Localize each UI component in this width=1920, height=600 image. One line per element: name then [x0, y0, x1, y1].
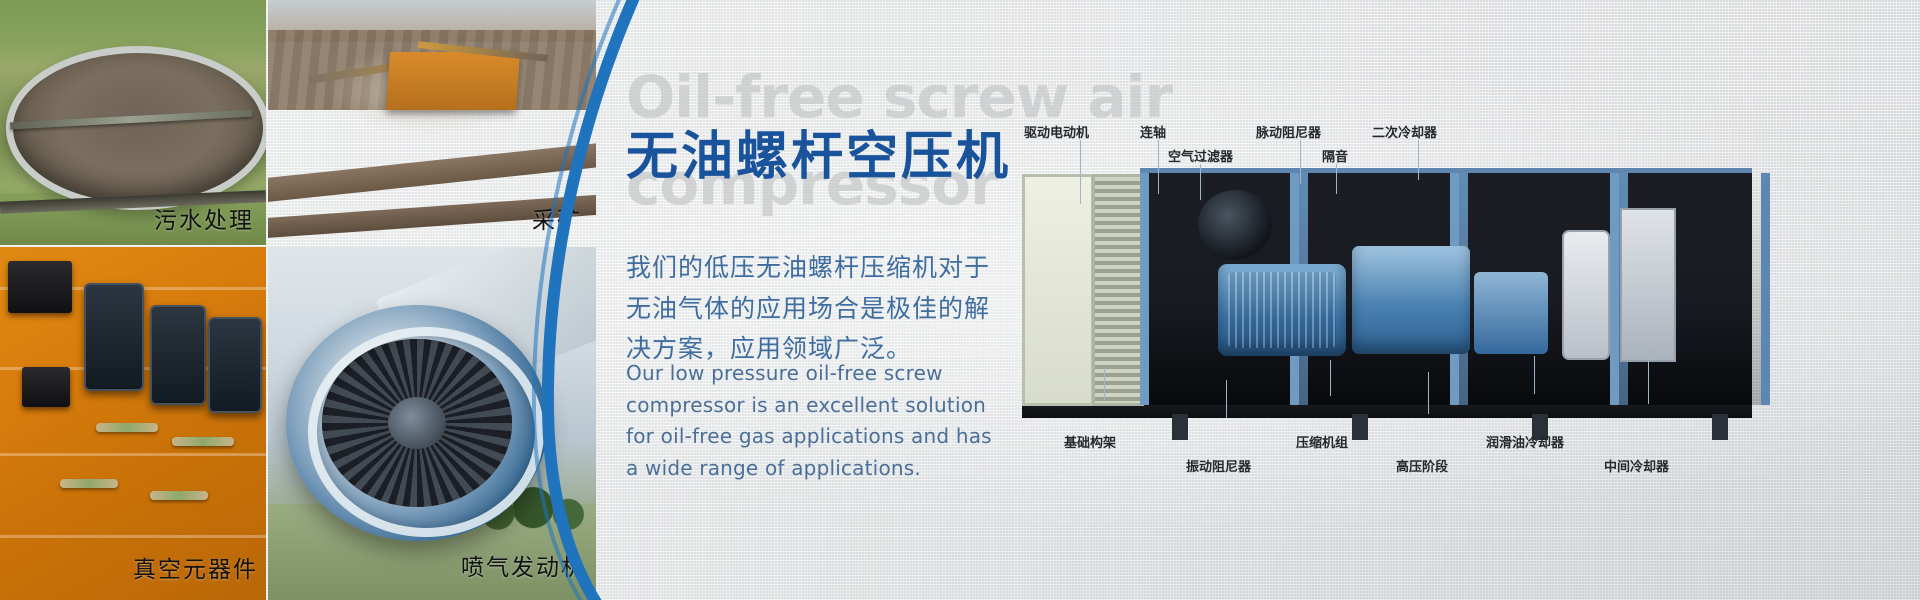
pcb-trace	[0, 453, 266, 456]
leader-line	[1648, 352, 1649, 404]
compressor-unit-illustration	[1022, 168, 1752, 418]
leader-line	[1300, 140, 1301, 184]
leader-line	[1226, 380, 1227, 418]
leader-line	[1418, 140, 1419, 180]
air-filter-housing	[1198, 190, 1272, 260]
diagram-label: 高压阶段	[1396, 456, 1448, 475]
drive-motor	[1218, 264, 1346, 356]
diagram-label: 压缩机组	[1296, 432, 1348, 451]
motor-ribs	[1228, 272, 1336, 348]
diagram-label: 空气过滤器	[1168, 146, 1233, 165]
cooling-fin-stack	[1092, 174, 1144, 406]
photo-vacuum-components: 真空元器件	[0, 247, 266, 600]
inlet-lip	[308, 327, 544, 537]
ic-chip	[22, 367, 70, 407]
haul-road	[268, 140, 596, 204]
diagram-label: 驱动电动机	[1024, 122, 1089, 141]
leader-line	[1104, 368, 1105, 400]
compressor-diagram: 驱动电动机连轴脉动阻尼器二次冷却器空气过滤器隔音 基础构架振动阻尼器压缩机组高压…	[1000, 0, 1920, 600]
vibration-damper-leg	[1712, 414, 1728, 440]
lube-oil-cooler	[1562, 230, 1610, 360]
diagram-label: 振动阻尼器	[1186, 456, 1251, 475]
high-pressure-stage	[1474, 272, 1548, 354]
resistor	[150, 491, 208, 500]
electrolytic-capacitor	[84, 283, 144, 391]
diagram-label: 脉动阻尼器	[1256, 122, 1321, 141]
resistor	[96, 423, 158, 432]
leader-line	[1158, 140, 1159, 194]
leader-line	[1080, 140, 1081, 204]
screw-compressor-block	[1352, 246, 1470, 354]
photo-collage: 污水处理 采矿 真空元器件	[0, 0, 596, 600]
diagram-label: 润滑油冷却器	[1486, 432, 1564, 451]
sedimentation-tank	[6, 46, 266, 210]
leader-line	[1428, 372, 1429, 414]
photo-caption-wastewater: 污水处理	[154, 201, 254, 235]
vibration-damper-leg	[1172, 414, 1188, 440]
vibration-damper-leg	[1352, 414, 1368, 440]
text-column: Oil-free screw air compressor 无油螺杆空压机 我们…	[626, 0, 1026, 600]
electrolytic-capacitor	[150, 305, 206, 405]
leader-line	[1336, 164, 1337, 194]
photo-caption-vacuum-components: 真空元器件	[133, 550, 258, 584]
leader-line	[1330, 360, 1331, 396]
leader-line	[1200, 164, 1201, 200]
diagram-label: 二次冷却器	[1372, 122, 1437, 141]
diagram-label: 中间冷却器	[1604, 456, 1669, 475]
photo-caption-jet-engine: 喷气发动机	[461, 548, 586, 582]
leader-line	[1534, 356, 1535, 394]
photo-jet-engine: 喷气发动机	[268, 247, 596, 600]
resistor	[60, 479, 118, 488]
photo-caption-mining: 采矿	[532, 201, 582, 235]
secondary-cooler-panel	[1022, 174, 1094, 406]
diagram-label: 基础构架	[1064, 432, 1116, 451]
photo-mining: 采矿	[268, 0, 596, 245]
description-chinese: 我们的低压无油螺杆压缩机对于无油气体的应用场合是极佳的解决方案，应用领域广泛。	[626, 248, 1012, 370]
photo-wastewater-treatment: 污水处理	[0, 0, 266, 245]
resistor	[172, 437, 234, 446]
diagram-label: 连轴	[1140, 122, 1166, 141]
diagram-label: 隔音	[1322, 146, 1348, 165]
electrolytic-capacitor	[208, 317, 262, 413]
description-english: Our low pressure oil-free screw compress…	[626, 358, 998, 484]
banner-root: 污水处理 采矿 真空元器件	[0, 0, 1920, 600]
bucket-wheel-excavator	[386, 52, 520, 110]
pcb-trace	[0, 535, 266, 538]
intercooler	[1620, 208, 1676, 362]
page-title: 无油螺杆空压机	[626, 114, 1011, 189]
ic-chip	[8, 261, 72, 313]
